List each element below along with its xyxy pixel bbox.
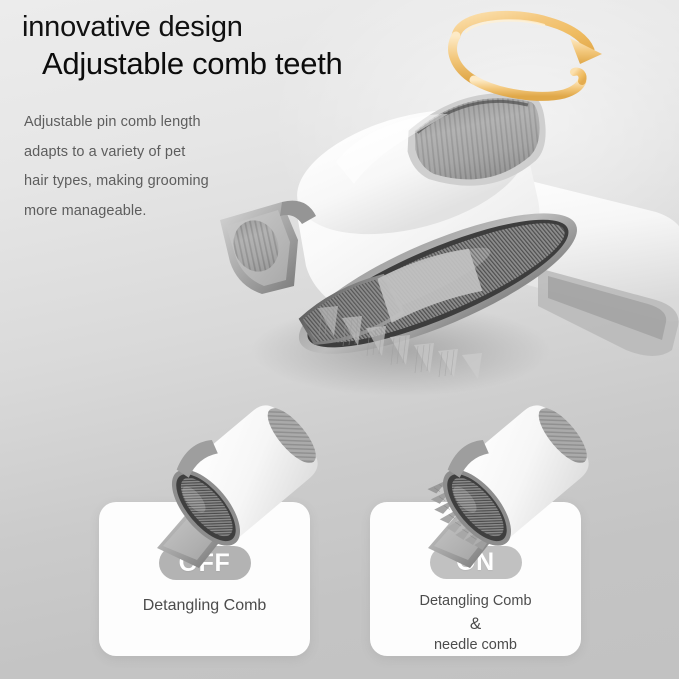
product-feature-image: innovative design Adjustable comb teeth … [0,0,679,679]
card-on-caption-ampersand: & [419,613,531,636]
body-copy: Adjustable pin comb length adapts to a v… [24,108,264,227]
body-copy-line-3: hair types, making grooming [24,167,264,197]
body-copy-line-4: more manageable. [24,197,264,227]
headline-line-1: innovative design [22,10,452,45]
headline-block: innovative design Adjustable comb teeth [22,10,452,83]
status-badge-on: ON [430,546,522,579]
card-on-caption-line-2: needle comb [419,636,531,656]
card-off[interactable]: OFF Detangling Comb [99,502,310,656]
card-on[interactable]: ON Detangling Comb & needle comb [370,502,581,656]
body-copy-line-2: adapts to a variety of pet [24,138,264,168]
body-copy-line-1: Adjustable pin comb length [24,108,264,138]
headline-line-2: Adjustable comb teeth [42,45,452,83]
rotation-arrow-icon [432,2,632,122]
status-badge-off: OFF [159,546,251,580]
card-on-caption-line-1: Detangling Comb [419,593,531,609]
card-off-caption: Detangling Comb [143,597,267,616]
card-on-caption: Detangling Comb & needle comb [419,592,531,656]
